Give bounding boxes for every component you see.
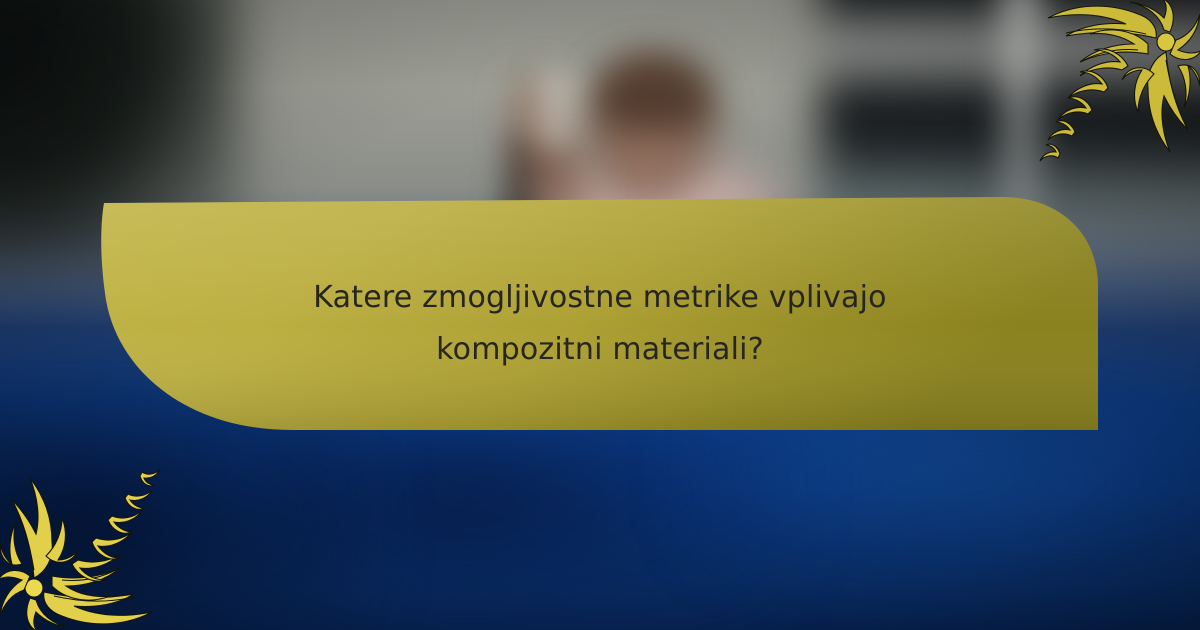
floral-corner-ornament-bottom-left xyxy=(0,440,190,630)
question-line-2: kompozitni materiali? xyxy=(230,324,970,376)
question-text: Katere zmogljivostne metrike vplivajo ko… xyxy=(230,272,970,376)
question-line-1: Katere zmogljivostne metrike vplivajo xyxy=(230,272,970,324)
share-card: Katere zmogljivostne metrike vplivajo ko… xyxy=(0,0,1200,630)
floral-corner-ornament-top-right xyxy=(1010,0,1200,190)
